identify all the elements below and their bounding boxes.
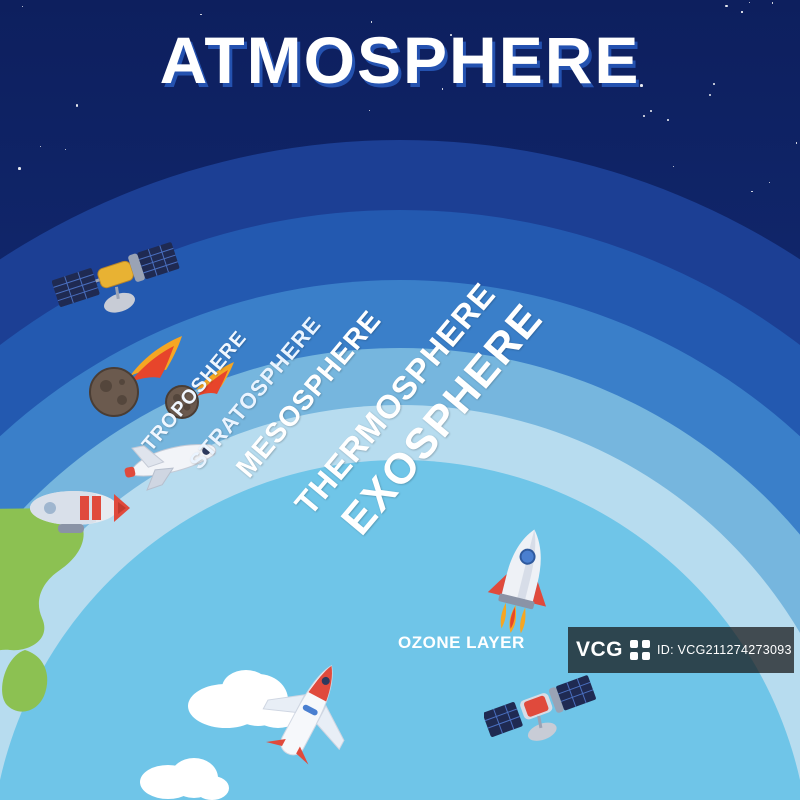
airship-icon bbox=[22, 482, 132, 544]
page-title: ATMOSPHERE bbox=[0, 22, 800, 98]
label-ozone-layer: OZONE LAYER bbox=[398, 633, 525, 653]
satellite-upper-icon bbox=[52, 240, 187, 330]
watermark-logo: VCG bbox=[576, 638, 623, 662]
rocket-icon bbox=[482, 524, 562, 634]
cloud-small bbox=[138, 748, 230, 800]
satellite-lower-icon bbox=[484, 668, 604, 758]
infographic-atmosphere: EXOSPHERE THERMOSPHERE MESOSPHERE STRATO… bbox=[0, 0, 800, 800]
watermark-id: ID: VCG211274273093 bbox=[657, 643, 792, 657]
airplane-icon bbox=[262, 656, 362, 766]
watermark: VCG ID: VCG211274273093 bbox=[568, 627, 794, 673]
vcg-mark-icon bbox=[629, 639, 651, 661]
